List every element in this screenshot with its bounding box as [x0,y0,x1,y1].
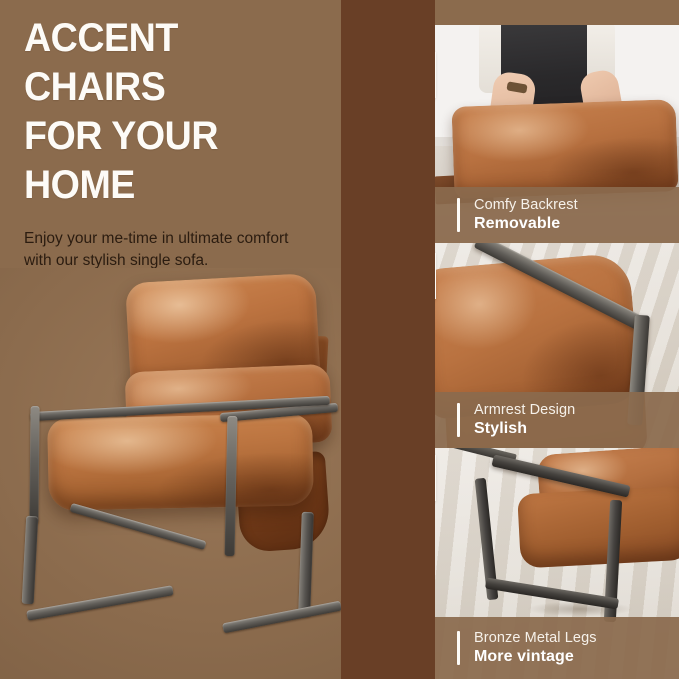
feature-card-2-subtitle: Stylish [474,419,575,439]
feature-card-3-caption: Bronze Metal Legs More vintage [435,617,679,679]
scene1-leather-cushion [451,99,678,199]
accent-bar-icon [457,631,460,665]
chair-diagonal-brace [69,503,206,550]
feature-card-1: 1 Comfy Backrest Removable [435,25,679,243]
divider-band [341,0,435,679]
feature-card-2-caption: Armrest Design Stylish [435,392,679,448]
accent-bar-icon [457,403,460,437]
headline-line-4: HOME [24,161,306,210]
headline-line-1: ACCENT [24,14,306,63]
page-title: ACCENT CHAIRS FOR YOUR HOME [24,14,324,210]
feature-card-1-caption: Comfy Backrest Removable [435,187,679,243]
feature-card-2: 2 Armrest Design Stylish [435,243,679,448]
feature-card-1-badge: 1 [435,52,436,98]
chair-seat-cushion [47,413,314,511]
chair-illustration [8,276,338,674]
feature-card-3-subtitle: More vintage [474,647,597,667]
feature-card-3-title: Bronze Metal Legs [474,629,597,647]
chair-right-leg [298,512,314,616]
left-panel: ACCENT CHAIRS FOR YOUR HOME Enjoy your m… [0,0,341,679]
feature-card-3: 3 Bronze Metal Legs More vintage [435,448,679,679]
feature-card-3-badge: 3 [435,455,436,501]
chair-left-arm-post [29,406,39,524]
feature-card-2-title: Armrest Design [474,401,575,419]
scene3-lower-cushion [517,486,679,569]
feature-card-1-title: Comfy Backrest [474,196,578,214]
headline-line-2: CHAIRS [24,63,306,112]
feature-card-2-badge: 2 [435,253,436,299]
chair-right-foot-rail [222,601,341,634]
headline-line-3: FOR YOUR [24,112,306,161]
chair-left-foot-rail [26,585,173,621]
feature-card-column: 1 Comfy Backrest Removable [435,0,679,679]
product-feature-poster: ACCENT CHAIRS FOR YOUR HOME Enjoy your m… [0,0,679,679]
subtitle-line-1: Enjoy your me-time in ultimate comfort [24,228,336,250]
hero-chair-photo [0,268,341,679]
accent-bar-icon [457,198,460,232]
chair-left-leg [22,516,39,605]
feature-card-1-subtitle: Removable [474,214,578,234]
chair-right-arm-post [225,416,238,556]
subtitle: Enjoy your me-time in ultimate comfort w… [24,228,336,272]
